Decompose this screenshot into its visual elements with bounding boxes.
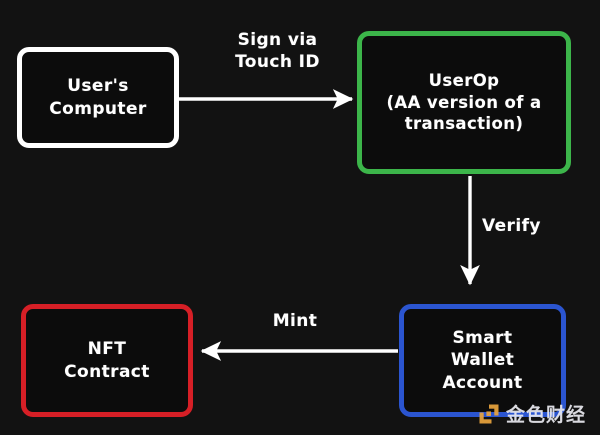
edge-label-mint: Mint bbox=[245, 310, 345, 332]
diagram-canvas: User's Computer UserOp (AA version of a … bbox=[0, 0, 600, 435]
node-userop[interactable]: UserOp (AA version of a transaction) bbox=[357, 31, 571, 174]
watermark: 金色财经 bbox=[478, 400, 586, 427]
edge-label-verify: Verify bbox=[482, 215, 572, 237]
node-nft-contract[interactable]: NFT Contract bbox=[21, 304, 193, 417]
node-user-computer[interactable]: User's Computer bbox=[17, 47, 179, 148]
watermark-text: 金色财经 bbox=[506, 400, 586, 427]
edge-label-sign-via-touch-id: Sign via Touch ID bbox=[200, 29, 355, 73]
jinse-logo-icon bbox=[478, 403, 500, 425]
